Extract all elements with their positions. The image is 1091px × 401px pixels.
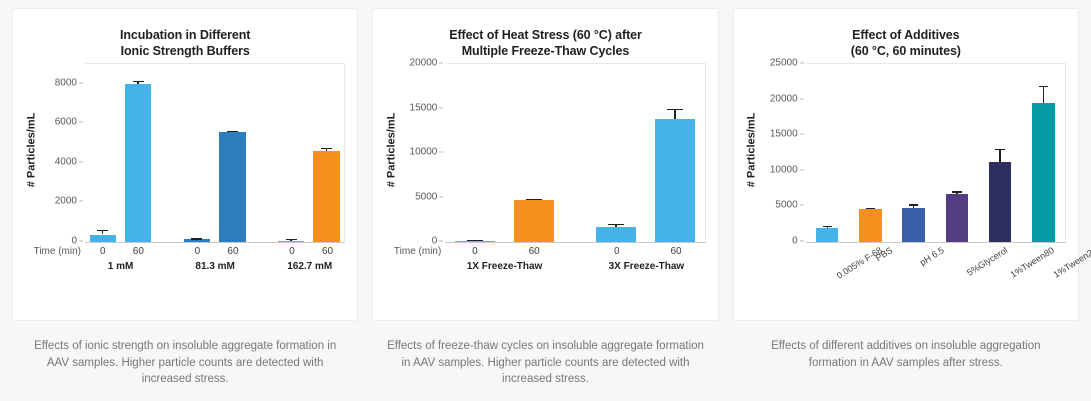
x-tick-label: 1%Tween80 bbox=[1008, 245, 1055, 280]
y-tick-label: 15000 bbox=[410, 102, 438, 113]
error-bar-cap bbox=[995, 149, 1004, 150]
bar bbox=[902, 208, 924, 242]
bar bbox=[816, 228, 838, 242]
x-tick-label: 0 bbox=[100, 246, 106, 257]
chart-card-1: Incubation in Different Ionic Strength B… bbox=[12, 8, 358, 321]
x-tick-label: 0 bbox=[614, 246, 620, 257]
y-tick-label: 20000 bbox=[770, 93, 798, 104]
y-tick-label: 0 bbox=[71, 236, 77, 247]
y-tick-mark bbox=[439, 152, 443, 153]
time-axis-label: Time (min) bbox=[383, 246, 441, 257]
x-group-label: 1 mM bbox=[108, 261, 134, 272]
y-tick-mark bbox=[800, 241, 804, 242]
panel-ionic-strength: Incubation in Different Ionic Strength B… bbox=[12, 8, 358, 388]
y-tick-mark bbox=[79, 161, 83, 162]
error-bar-cap bbox=[952, 191, 961, 192]
bar bbox=[655, 119, 694, 242]
y-tick-label: 20000 bbox=[410, 58, 438, 69]
y-tick-mark bbox=[800, 98, 804, 99]
panel-additives: Effect of Additives (60 °C, 60 minutes) … bbox=[733, 8, 1079, 388]
y-tick-label: 10000 bbox=[770, 164, 798, 175]
y-tick-mark bbox=[79, 241, 83, 242]
error-bar-cap bbox=[608, 224, 625, 225]
error-bar-cap bbox=[823, 226, 832, 227]
x-group-label: 81.3 mM bbox=[195, 261, 234, 272]
y-tick-label: 5000 bbox=[775, 200, 797, 211]
y-tick-mark bbox=[800, 205, 804, 206]
bar-group-1 bbox=[85, 64, 344, 242]
error-bar-cap bbox=[526, 199, 543, 200]
y-tick-mark bbox=[439, 107, 443, 108]
x-axis-band-1: 0600600601 mM81.3 mM162.7 mMTime (min) bbox=[85, 242, 345, 295]
y-tick-label: 6000 bbox=[55, 117, 77, 128]
error-bar bbox=[999, 149, 1000, 163]
x-group-label: 162.7 mM bbox=[287, 261, 332, 272]
y-tick-mark bbox=[800, 169, 804, 170]
bar bbox=[1032, 103, 1054, 242]
y-tick-label: 10000 bbox=[410, 147, 438, 158]
plot-area-3: # Particles/mL 0500010000150002000025000… bbox=[742, 63, 1070, 295]
chart-card-3: Effect of Additives (60 °C, 60 minutes) … bbox=[733, 8, 1079, 321]
y-tick-mark bbox=[79, 201, 83, 202]
error-bar-cap bbox=[227, 131, 238, 132]
y-axis-label-text-2: # Particles/mL bbox=[385, 113, 397, 188]
chart-title-1: Incubation in Different Ionic Strength B… bbox=[25, 27, 345, 59]
bar bbox=[125, 84, 151, 242]
error-bar-cap bbox=[467, 240, 484, 241]
y-tick-group-3: 0500010000150002000025000 bbox=[760, 63, 804, 241]
error-bar-cap bbox=[97, 230, 108, 231]
error-bar-cap bbox=[909, 204, 918, 205]
bar-group-3 bbox=[806, 64, 1065, 242]
bar-group-2 bbox=[445, 64, 704, 242]
y-tick-mark bbox=[439, 63, 443, 64]
error-bar bbox=[674, 109, 675, 120]
x-tick-label: 60 bbox=[227, 246, 238, 257]
y-tick-mark bbox=[79, 122, 83, 123]
x-tick-label: 0 bbox=[195, 246, 201, 257]
y-tick-label: 5000 bbox=[415, 191, 437, 202]
plot-canvas-2 bbox=[445, 63, 705, 243]
error-bar-cap bbox=[1039, 86, 1048, 87]
chart-card-2: Effect of Heat Stress (60 °C) after Mult… bbox=[372, 8, 718, 321]
chart-title-3: Effect of Additives (60 °C, 60 minutes) bbox=[746, 27, 1066, 59]
y-tick-label: 15000 bbox=[770, 129, 798, 140]
y-tick-label: 25000 bbox=[770, 58, 798, 69]
bar bbox=[219, 132, 245, 242]
y-tick-label: 0 bbox=[792, 236, 798, 247]
x-tick-label: 0 bbox=[472, 246, 478, 257]
panel-freeze-thaw: Effect of Heat Stress (60 °C) after Mult… bbox=[372, 8, 718, 388]
y-tick-label: 8000 bbox=[55, 77, 77, 88]
bar bbox=[596, 227, 635, 242]
bar bbox=[514, 200, 553, 242]
panel-row: Incubation in Different Ionic Strength B… bbox=[0, 0, 1091, 388]
y-tick-mark bbox=[800, 63, 804, 64]
error-bar-cap bbox=[667, 109, 684, 110]
y-axis-label-2: # Particles/mL bbox=[383, 63, 399, 237]
figure-page: Incubation in Different Ionic Strength B… bbox=[0, 0, 1091, 401]
bar bbox=[989, 162, 1011, 242]
error-bar-cap bbox=[133, 81, 144, 82]
plot-canvas-1 bbox=[85, 63, 345, 243]
x-tick-label: 60 bbox=[322, 246, 333, 257]
x-tick-label: 1%Tween20 bbox=[1052, 245, 1091, 280]
x-group-label: 1X Freeze-Thaw bbox=[467, 261, 543, 272]
chart-title-2: Effect of Heat Stress (60 °C) after Mult… bbox=[385, 27, 705, 59]
plot-area-2: # Particles/mL 05000100001500020000 0600… bbox=[381, 63, 709, 295]
y-tick-mark bbox=[439, 196, 443, 197]
y-tick-label: 4000 bbox=[55, 156, 77, 167]
plot-area-1: # Particles/mL 02000400060008000 0600600… bbox=[21, 63, 349, 295]
y-tick-label: 2000 bbox=[55, 196, 77, 207]
x-axis-band-2: 0600601X Freeze-Thaw3X Freeze-ThawTime (… bbox=[445, 242, 705, 295]
y-tick-mark bbox=[439, 241, 443, 242]
x-tick-label: 60 bbox=[670, 246, 681, 257]
plot-canvas-3 bbox=[806, 63, 1066, 243]
panel-caption-2: Effects of freeze-thaw cycles on insolub… bbox=[372, 338, 718, 388]
bar bbox=[859, 209, 881, 242]
x-tick-label: 5%Glycerol bbox=[964, 245, 1008, 278]
y-axis-label-1: # Particles/mL bbox=[23, 63, 39, 237]
y-axis-label-3: # Particles/mL bbox=[744, 63, 760, 237]
y-tick-mark bbox=[800, 134, 804, 135]
error-bar-cap bbox=[191, 238, 202, 239]
y-tick-group-2: 05000100001500020000 bbox=[399, 63, 443, 241]
x-tick-label: 60 bbox=[529, 246, 540, 257]
bar bbox=[90, 235, 116, 243]
panel-caption-1: Effects of ionic strength on insoluble a… bbox=[12, 338, 358, 388]
x-tick-label: 0 bbox=[289, 246, 295, 257]
x-tick-label: 60 bbox=[133, 246, 144, 257]
y-axis-label-text-3: # Particles/mL bbox=[746, 113, 758, 188]
error-bar-cap bbox=[286, 239, 297, 240]
y-axis-label-text-1: # Particles/mL bbox=[25, 113, 37, 188]
bar bbox=[313, 151, 339, 242]
y-tick-mark bbox=[79, 82, 83, 83]
x-group-label: 3X Freeze-Thaw bbox=[609, 261, 685, 272]
bar bbox=[946, 194, 968, 242]
x-tick-label: pH 6.5 bbox=[918, 245, 946, 268]
error-bar-cap bbox=[866, 208, 875, 209]
x-tick-label: 0.005% F-68 bbox=[835, 245, 884, 281]
error-bar-cap bbox=[321, 148, 332, 149]
y-tick-group-1: 02000400060008000 bbox=[39, 63, 83, 241]
y-tick-label: 0 bbox=[432, 236, 438, 247]
x-axis-band-3: 0.005% F-68PBSpH 6.55%Glycerol1%Tween801… bbox=[806, 242, 1066, 295]
panel-caption-3: Effects of different additives on insolu… bbox=[733, 338, 1079, 371]
error-bar bbox=[1043, 86, 1044, 103]
time-axis-label: Time (min) bbox=[23, 246, 81, 257]
